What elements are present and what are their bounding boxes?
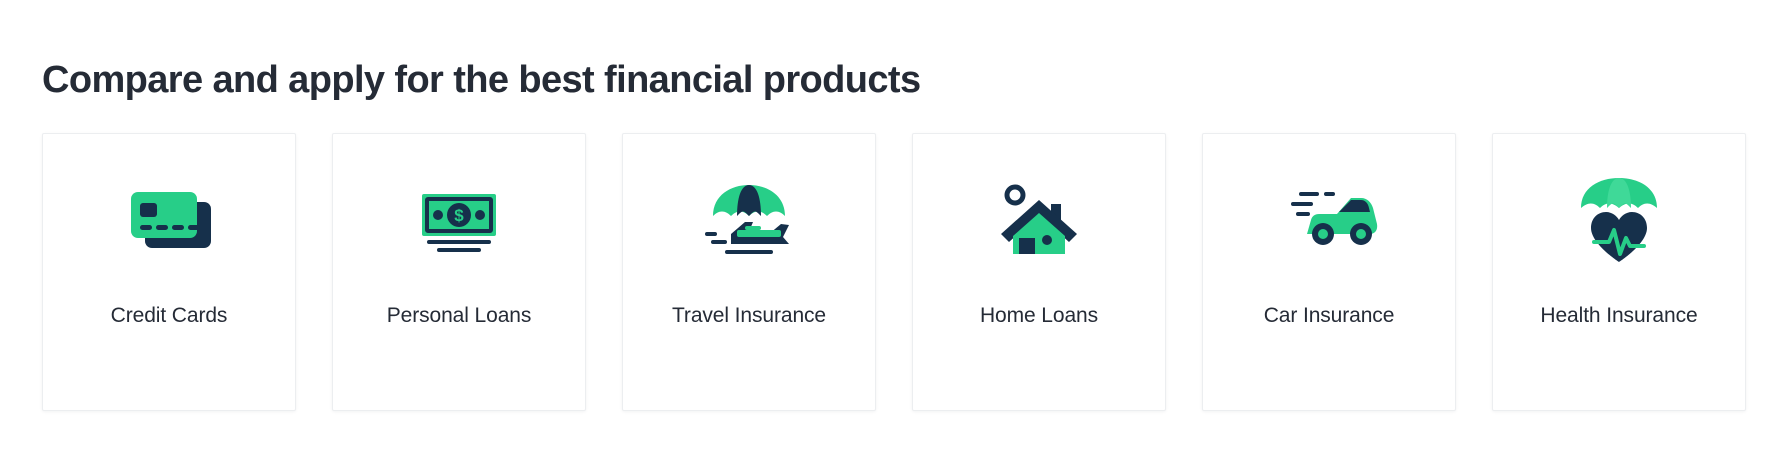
- product-card-label: Personal Loans: [364, 296, 554, 336]
- car-icon: [1274, 172, 1384, 268]
- product-card-label: Travel Insurance: [654, 296, 844, 336]
- product-card-travel-insurance[interactable]: Travel Insurance: [622, 133, 876, 411]
- product-card-row: Credit Cards $ Personal Loans: [42, 133, 1746, 411]
- product-card-health-insurance[interactable]: Health Insurance: [1492, 133, 1746, 411]
- umbrella-heart-icon: [1564, 172, 1674, 268]
- product-card-car-insurance[interactable]: Car Insurance: [1202, 133, 1456, 411]
- page-title: Compare and apply for the best financial…: [42, 56, 921, 104]
- product-card-credit-cards[interactable]: Credit Cards: [42, 133, 296, 411]
- product-card-label: Home Loans: [944, 296, 1134, 336]
- svg-text:$: $: [454, 206, 464, 225]
- product-card-home-loans[interactable]: Home Loans: [912, 133, 1166, 411]
- product-card-personal-loans[interactable]: $ Personal Loans: [332, 133, 586, 411]
- house-icon: [984, 172, 1094, 268]
- financial-products-section: Compare and apply for the best financial…: [0, 0, 1787, 472]
- banknote-icon: $: [404, 172, 514, 268]
- umbrella-plane-icon: [694, 172, 804, 268]
- product-card-label: Car Insurance: [1234, 296, 1424, 336]
- product-card-label: Credit Cards: [74, 296, 264, 336]
- credit-card-icon: [114, 172, 224, 268]
- product-card-label: Health Insurance: [1524, 296, 1714, 336]
